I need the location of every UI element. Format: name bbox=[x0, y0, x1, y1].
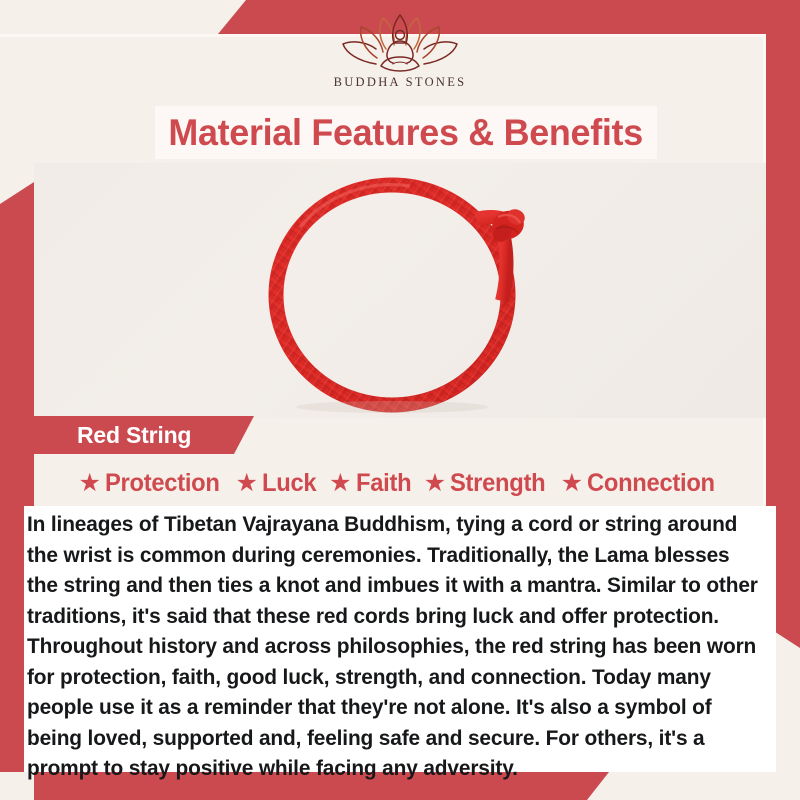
benefit-label: Faith bbox=[356, 469, 411, 498]
page-title: Material Features & Benefits bbox=[169, 112, 644, 154]
star-icon: ★ bbox=[561, 471, 583, 496]
brand-logo: BUDDHA STONES bbox=[0, 12, 800, 98]
benefit-label: Connection bbox=[587, 469, 715, 498]
benefit-label: Protection bbox=[105, 469, 220, 498]
star-icon: ★ bbox=[236, 471, 258, 496]
benefit-item-luck: ★ Luck bbox=[231, 469, 325, 498]
title-banner: Material Features & Benefits bbox=[155, 106, 657, 159]
star-icon: ★ bbox=[79, 471, 101, 496]
benefit-item-connection: ★ Connection bbox=[556, 469, 727, 498]
benefit-label: Luck bbox=[262, 469, 316, 498]
brand-name: BUDDHA STONES bbox=[334, 75, 467, 90]
description-panel: In lineages of Tibetan Vajrayana Buddhis… bbox=[24, 506, 776, 772]
material-label: Red String bbox=[34, 422, 191, 449]
red-string-bracelet-image bbox=[240, 167, 560, 415]
benefit-item-strength: ★ Strength bbox=[419, 469, 556, 498]
star-icon: ★ bbox=[329, 471, 351, 496]
benefit-item-faith: ★ Faith bbox=[324, 469, 419, 498]
description-paragraph: In lineages of Tibetan Vajrayana Buddhis… bbox=[27, 510, 763, 785]
material-label-banner: Red String bbox=[34, 416, 254, 454]
benefit-label: Strength bbox=[450, 469, 545, 498]
benefits-row: ★ Protection ★ Luck ★ Faith ★ Strength ★… bbox=[40, 464, 760, 502]
benefit-item-protection: ★ Protection bbox=[74, 469, 231, 498]
product-photo bbox=[34, 163, 766, 418]
lotus-meditation-icon bbox=[341, 12, 459, 74]
star-icon: ★ bbox=[424, 471, 446, 496]
infographic-page: BUDDHA STONES Material Features & Benefi… bbox=[0, 0, 800, 800]
